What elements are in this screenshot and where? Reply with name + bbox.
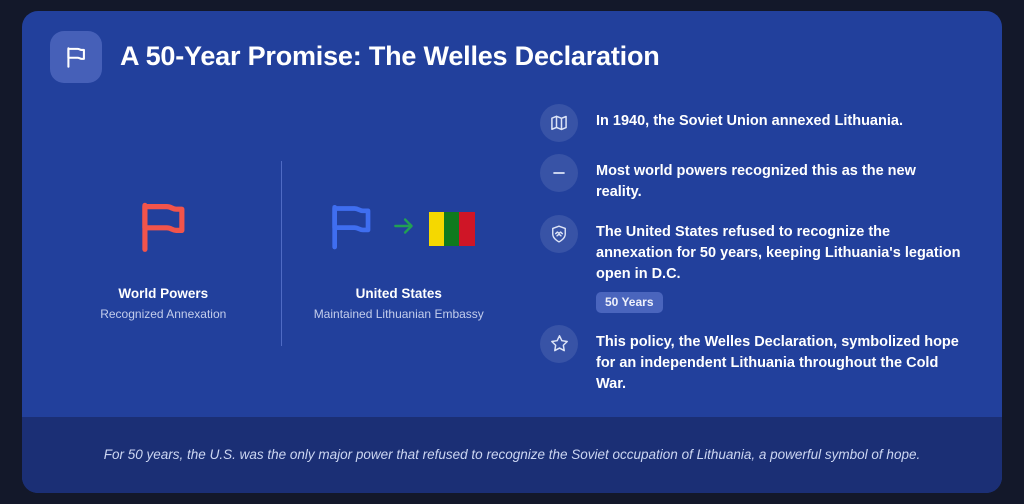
infographic-card: A 50-Year Promise: The Welles Declaratio…	[22, 11, 1002, 493]
united-states-title: United States	[356, 285, 442, 303]
list-item-body: Most world powers recognized this as the…	[596, 161, 962, 203]
star-icon	[540, 325, 578, 363]
world-powers-subtitle: Recognized Annexation	[100, 307, 226, 323]
flag-icon	[323, 198, 379, 259]
list-item: This policy, the Welles Declaration, sym…	[540, 332, 962, 395]
footer-caption: For 50 years, the U.S. was the only majo…	[104, 446, 920, 465]
header-flag-badge	[50, 31, 102, 83]
flag-icon	[63, 44, 89, 70]
card-footer: For 50 years, the U.S. was the only majo…	[22, 417, 1002, 493]
list-item-text: Most world powers recognized this as the…	[596, 161, 962, 203]
map-icon	[540, 104, 578, 142]
comparison-row: World Powers Recognized Annexation	[46, 161, 516, 346]
status-badge: 50 Years	[596, 292, 663, 312]
page-title: A 50-Year Promise: The Welles Declaratio…	[120, 41, 660, 72]
lithuania-flag-icon	[429, 212, 475, 246]
minus-icon	[540, 154, 578, 192]
list-item: In 1940, the Soviet Union annexed Lithua…	[540, 111, 962, 142]
world-powers-title: World Powers	[118, 285, 208, 303]
list-item: Most world powers recognized this as the…	[540, 161, 962, 203]
comparison-panel: World Powers Recognized Annexation	[46, 89, 516, 417]
united-states-visual	[323, 183, 475, 275]
comparison-united-states: United States Maintained Lithuanian Emba…	[282, 161, 517, 346]
card-body: World Powers Recognized Annexation	[22, 89, 1002, 417]
list-item-text: The United States refused to recognize t…	[596, 222, 962, 285]
list-item-body: This policy, the Welles Declaration, sym…	[596, 332, 962, 395]
united-states-subtitle: Maintained Lithuanian Embassy	[314, 307, 484, 323]
list-item: The United States refused to recognize t…	[540, 222, 962, 312]
list-item-body: The United States refused to recognize t…	[596, 222, 962, 312]
world-powers-visual	[132, 183, 194, 275]
comparison-world-powers: World Powers Recognized Annexation	[46, 161, 281, 346]
card-header: A 50-Year Promise: The Welles Declaratio…	[22, 11, 1002, 89]
list-item-body: In 1940, the Soviet Union annexed Lithua…	[596, 111, 903, 132]
list-item-text: This policy, the Welles Declaration, sym…	[596, 332, 962, 395]
facts-list: In 1940, the Soviet Union annexed Lithua…	[516, 89, 978, 417]
flag-icon	[132, 195, 194, 262]
arrow-right-icon	[391, 213, 417, 244]
list-item-text: In 1940, the Soviet Union annexed Lithua…	[596, 111, 903, 132]
handshake-shield-icon	[540, 215, 578, 253]
